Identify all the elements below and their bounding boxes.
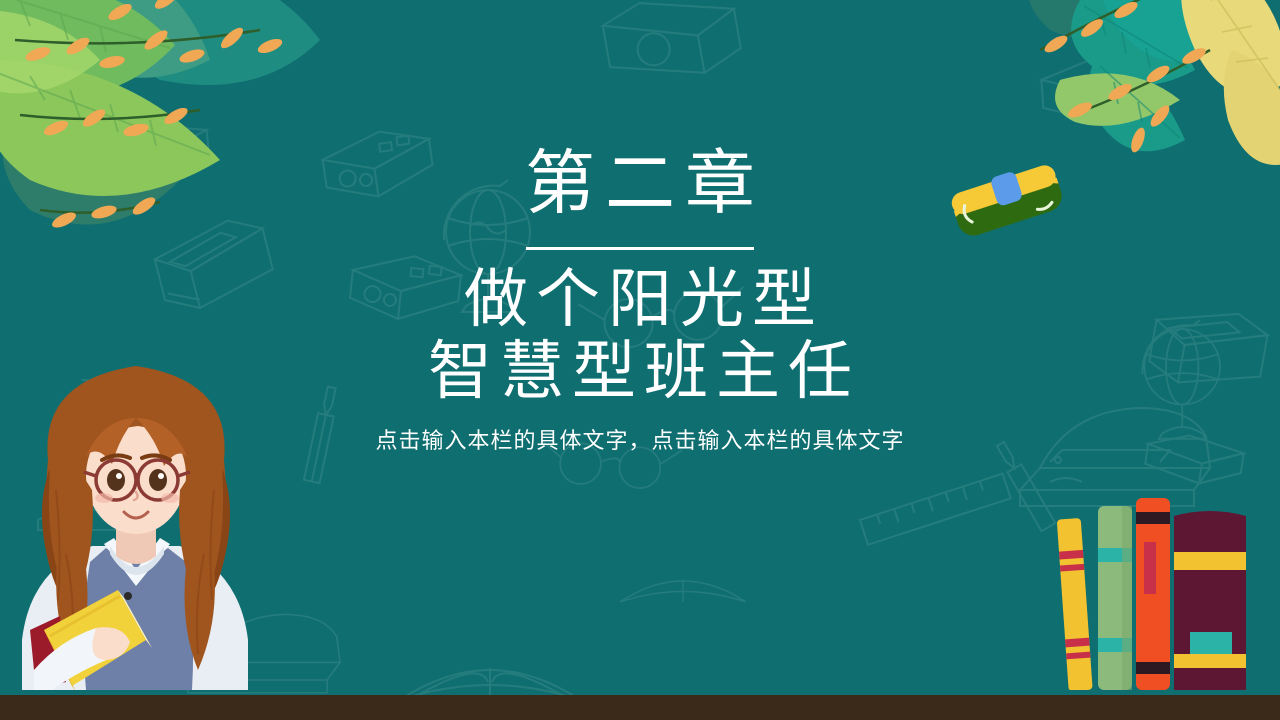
main-title-line1: 做个阳光型 (420, 264, 860, 336)
chapter-label: 第二章 (515, 150, 765, 220)
book-sage (1098, 506, 1132, 690)
slide-text-block: 第二章 做个阳光型 智慧型班主任 点击输入本栏的具体文字，点击输入本栏的具体文字 (0, 150, 1280, 455)
presentation-slide: 第二章 做个阳光型 智慧型班主任 点击输入本栏的具体文字，点击输入本栏的具体文字 (0, 0, 1280, 720)
book-yellow (1057, 518, 1093, 690)
open-book-icon (620, 580, 746, 602)
glasses-icon (84, 460, 190, 500)
title-divider (526, 247, 754, 250)
stapler-icon (188, 614, 340, 692)
held-book-icon (44, 590, 152, 690)
camera-icon (600, 0, 744, 89)
book-maroon (1174, 511, 1246, 690)
desk-bar (0, 695, 1280, 720)
ruler-icon (860, 474, 1011, 545)
books-icon (1050, 490, 1280, 690)
main-title-line2: 智慧型班主任 (420, 336, 860, 408)
main-title: 做个阳光型 智慧型班主任 (420, 264, 860, 407)
pencil-sharpener-icon (1040, 52, 1152, 123)
subtitle-text: 点击输入本栏的具体文字，点击输入本栏的具体文字 (375, 423, 904, 455)
book-orange (1136, 498, 1170, 690)
books-decoration (1050, 490, 1280, 695)
